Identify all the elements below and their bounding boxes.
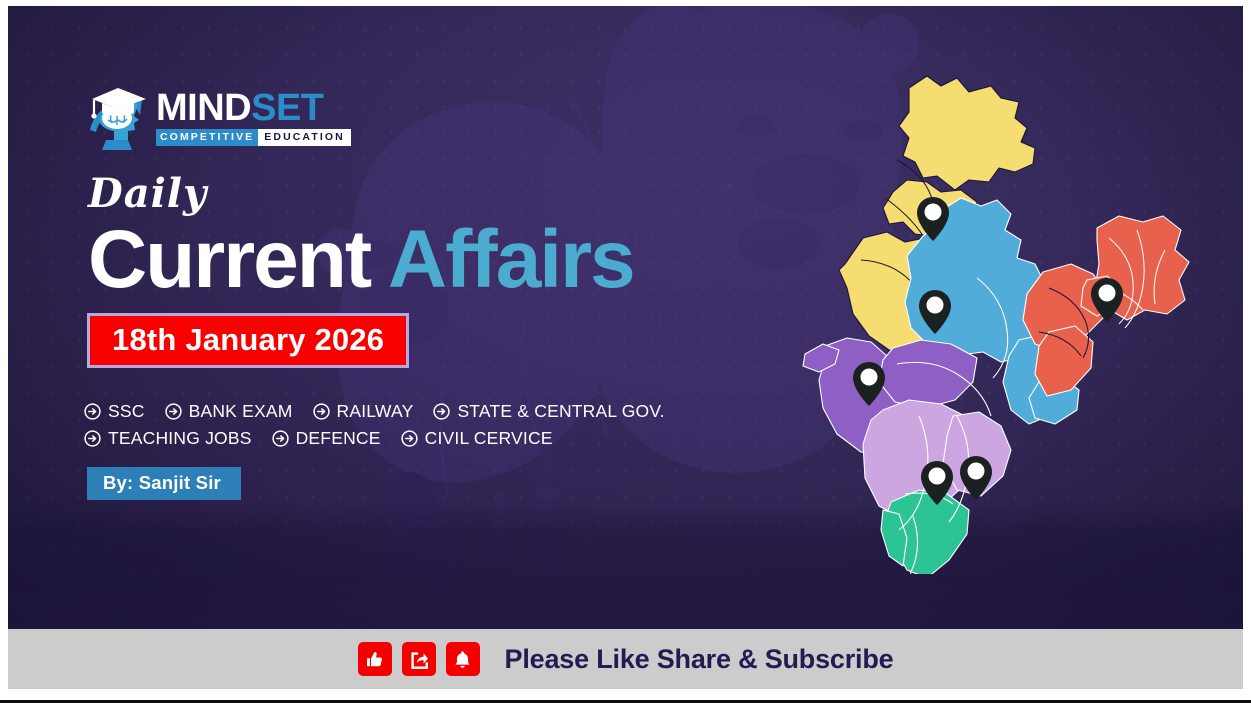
exam-item-defence: DEFENCE (272, 430, 381, 448)
share-arrow-icon (409, 650, 428, 669)
footer-cta-bar: Please Like Share & Subscribe (8, 629, 1243, 689)
brand-word-part1: MIND (156, 87, 251, 129)
brand-logo-text: MINDSET COMPETITIVE EDUCATION (156, 90, 332, 146)
child-silhouette (370, 472, 462, 612)
bell-icon (453, 650, 472, 669)
arrow-right-circle-icon (84, 403, 101, 420)
exam-label: STATE & CENTRAL GOV. (457, 403, 664, 421)
exam-row: TEACHING JOBS DEFENCE CIVIL CERVICE (84, 425, 734, 452)
exam-label: CIVIL CERVICE (425, 430, 553, 448)
exam-label: RAILWAY (337, 403, 414, 421)
page-title-part1: Current (88, 214, 388, 305)
pillar-post-right (540, 442, 553, 612)
exam-item-state-central-gov: STATE & CENTRAL GOV. (433, 403, 664, 421)
page-title: Current Affairs (88, 218, 634, 302)
pillar-post-left (494, 492, 505, 612)
arrow-right-circle-icon (272, 430, 289, 447)
share-button[interactable] (402, 642, 436, 676)
poster-stage: MINDSET COMPETITIVE EDUCATION Daily Curr… (8, 6, 1243, 632)
page-title-part2: Affairs (388, 214, 634, 305)
exam-item-teaching-jobs: TEACHING JOBS (84, 430, 252, 448)
pillar-knob-right (534, 487, 560, 499)
arrow-right-circle-icon (401, 430, 418, 447)
author-badge: By: Sanjit Sir (87, 467, 241, 500)
exam-label: BANK EXAM (189, 403, 293, 421)
exam-label: SSC (108, 403, 145, 421)
headline-kicker: Daily (88, 174, 634, 214)
thumbs-up-icon (365, 650, 384, 669)
graduation-cap-brain-head-icon (84, 84, 148, 152)
like-button[interactable] (358, 642, 392, 676)
brand-tagline-part2: EDUCATION (258, 129, 351, 146)
brand-tagline-part1: COMPETITIVE (156, 129, 258, 146)
arrow-right-circle-icon (165, 403, 182, 420)
exam-label: TEACHING JOBS (108, 430, 252, 448)
exam-label: DEFENCE (296, 430, 381, 448)
india-map (787, 64, 1207, 574)
pillar-knob-left (490, 520, 512, 530)
exam-row: SSC BANK EXAM RAILWAY (84, 398, 734, 425)
exam-category-list: SSC BANK EXAM RAILWAY (84, 398, 734, 452)
date-badge: 18th January 2026 (87, 313, 409, 368)
subscribe-button[interactable] (446, 642, 480, 676)
exam-item-civil-cervice: CIVIL CERVICE (401, 430, 553, 448)
exam-item-bank-exam: BANK EXAM (165, 403, 293, 421)
exam-item-ssc: SSC (84, 403, 145, 421)
arrow-right-circle-icon (84, 430, 101, 447)
date-badge-label: 18th January 2026 (112, 324, 384, 355)
brand-word-part2: SET (251, 87, 323, 129)
arrow-right-circle-icon (433, 403, 450, 420)
footer-message: Please Like Share & Subscribe (505, 646, 894, 673)
arrow-right-circle-icon (313, 403, 330, 420)
headline-block: Daily Current Affairs (88, 174, 634, 302)
author-badge-label: By: Sanjit Sir (103, 474, 221, 493)
exam-item-railway: RAILWAY (313, 403, 414, 421)
brand-tagline: COMPETITIVE EDUCATION (156, 129, 332, 146)
brand-logo[interactable]: MINDSET COMPETITIVE EDUCATION (84, 84, 332, 152)
footer-button-group (358, 642, 480, 676)
poster-canvas: MINDSET COMPETITIVE EDUCATION Daily Curr… (0, 0, 1251, 703)
brand-wordmark: MINDSET (156, 90, 332, 126)
